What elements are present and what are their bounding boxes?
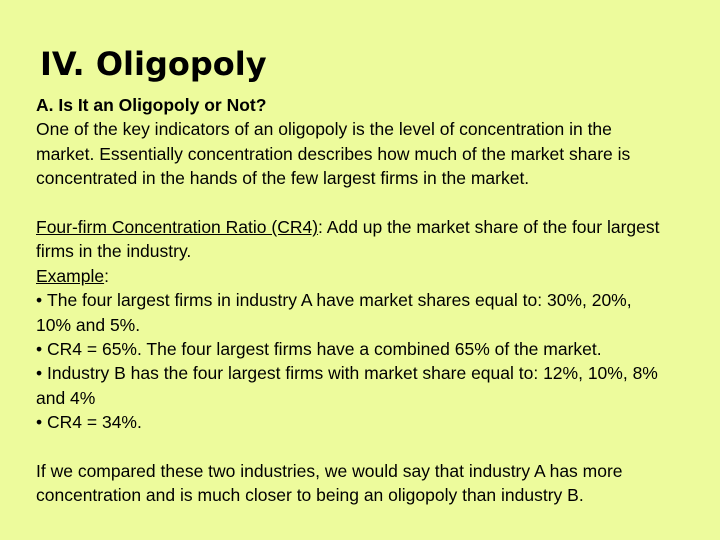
list-item: • CR4 = 34%. bbox=[36, 410, 662, 434]
example-label: Example bbox=[36, 266, 104, 286]
list-item-text: Industry B has the four largest firms wi… bbox=[36, 363, 658, 407]
bullet-marker-icon: • bbox=[36, 363, 42, 383]
list-item: • The four largest firms in industry A h… bbox=[36, 288, 662, 337]
spacer-1 bbox=[36, 191, 662, 215]
list-item: • CR4 = 65%. The four largest firms have… bbox=[36, 337, 662, 361]
conclusion-paragraph: If we compared these two industries, we … bbox=[36, 459, 662, 508]
bullet-marker-icon: • bbox=[36, 290, 42, 310]
bullet-marker-icon: • bbox=[36, 339, 42, 359]
slide-body: A. Is It an Oligopoly or Not? One of the… bbox=[36, 93, 662, 508]
spacer-2 bbox=[36, 435, 662, 459]
list-item-text: CR4 = 65%. The four largest firms have a… bbox=[47, 339, 602, 359]
example-label-separator: : bbox=[104, 266, 109, 286]
intro-paragraph: One of the key indicators of an oligopol… bbox=[36, 117, 662, 190]
slide-canvas: IV. Oligopoly A. Is It an Oligopoly or N… bbox=[0, 0, 720, 540]
section-heading: A. Is It an Oligopoly or Not? bbox=[36, 93, 662, 117]
bullet-marker-icon: • bbox=[36, 412, 42, 432]
example-label-line: Example: bbox=[36, 264, 662, 288]
list-item-text: The four largest firms in industry A hav… bbox=[36, 290, 632, 334]
list-item-text: CR4 = 34%. bbox=[47, 412, 142, 432]
definition-term: Four-firm Concentration Ratio (CR4) bbox=[36, 217, 318, 237]
definition-separator: : bbox=[318, 217, 327, 237]
page-title: IV. Oligopoly bbox=[40, 45, 267, 83]
list-item: • Industry B has the four largest firms … bbox=[36, 361, 662, 410]
definition-paragraph: Four-firm Concentration Ratio (CR4): Add… bbox=[36, 215, 662, 264]
